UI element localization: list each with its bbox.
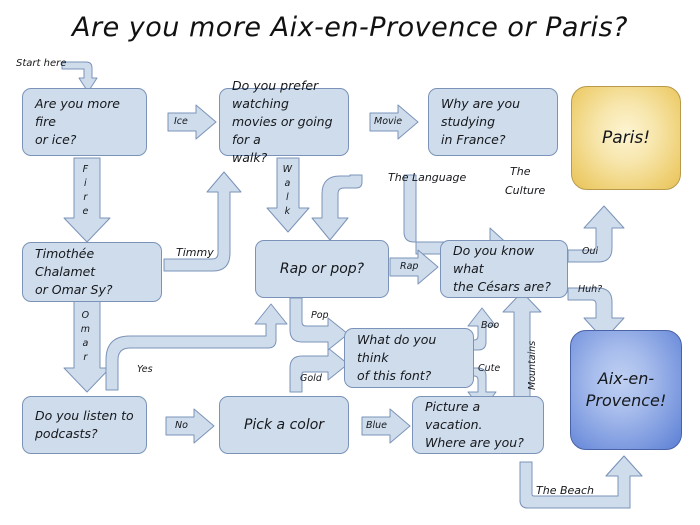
- arrow-rap: [390, 250, 438, 284]
- node-timothee-line2: or Omar Sy?: [35, 281, 149, 299]
- node-font[interactable]: What do you think of this font?: [344, 328, 474, 388]
- node-pick-color-label: Pick a color: [244, 415, 324, 435]
- node-fire-ice-line2: or ice?: [35, 131, 134, 149]
- arrow-timmy: [164, 172, 241, 271]
- edge-label-walk: Walk: [281, 164, 293, 220]
- node-font-line2: of this font?: [357, 367, 461, 385]
- edge-label-omar: Omar: [79, 310, 91, 366]
- arrow-movie: [370, 105, 418, 139]
- node-vacation-line2: Where are you?: [425, 434, 531, 452]
- arrow-blue: [362, 409, 410, 443]
- node-aix-line1: Aix-en-: [598, 368, 654, 390]
- arrow-ice: [168, 105, 216, 139]
- node-aix[interactable]: Aix-en- Provence!: [570, 330, 682, 450]
- node-movies-walk-line2: movies or going for a: [232, 113, 336, 149]
- node-timothee[interactable]: Timothée Chalamet or Omar Sy?: [22, 242, 162, 302]
- node-aix-line2: Provence!: [586, 390, 667, 412]
- node-paris-label: Paris!: [602, 127, 650, 150]
- edge-label-mountains: Mountains: [527, 341, 538, 390]
- edge-label-fire: Fire: [79, 164, 91, 220]
- edge-label-walk-text: Walk: [281, 164, 293, 220]
- node-cesars-line2: the Césars are?: [453, 278, 555, 296]
- node-why-france-line2: in France?: [441, 131, 545, 149]
- arrow-oui: [568, 206, 624, 262]
- node-why-france[interactable]: Why are you studying in France?: [428, 88, 558, 156]
- flowchart-canvas: Are you more Aix-en-Provence or Paris? .…: [0, 0, 700, 525]
- arrow-the-beach-body: [520, 456, 642, 508]
- node-podcasts-line1: Do you listen to: [35, 407, 134, 425]
- node-why-france-line1: Why are you studying: [441, 95, 545, 131]
- node-font-line1: What do you think: [357, 331, 461, 367]
- arrow-no: [166, 409, 214, 443]
- node-rap-pop[interactable]: Rap or pop?: [255, 240, 389, 298]
- start-here-label: Start here: [16, 58, 66, 69]
- arrow-yes: [106, 304, 287, 390]
- node-pick-color[interactable]: Pick a color: [219, 396, 349, 454]
- edge-label-fire-text: Fire: [79, 164, 91, 220]
- node-movies-walk[interactable]: Do you prefer watching movies or going f…: [219, 88, 349, 156]
- node-rap-pop-label: Rap or pop?: [280, 259, 364, 279]
- arrow-gold: [290, 348, 348, 392]
- node-fire-ice-line1: Are you more fire: [35, 95, 134, 131]
- arrow-pop: [290, 298, 348, 350]
- node-fire-ice[interactable]: Are you more fire or ice?: [22, 88, 147, 156]
- node-timothee-line1: Timothée Chalamet: [35, 245, 149, 281]
- node-vacation[interactable]: Picture a vacation. Where are you?: [412, 396, 544, 454]
- node-cesars[interactable]: Do you know what the Césars are?: [440, 240, 568, 298]
- node-podcasts-line2: podcasts?: [35, 425, 134, 443]
- node-podcasts[interactable]: Do you listen to podcasts?: [22, 396, 147, 454]
- node-cesars-line1: Do you know what: [453, 242, 555, 278]
- arrow-the-language: [312, 175, 362, 240]
- edge-label-omar-text: Omar: [79, 310, 91, 366]
- node-movies-walk-line1: Do you prefer watching: [232, 77, 336, 113]
- node-paris[interactable]: Paris!: [571, 86, 681, 190]
- node-vacation-line1: Picture a vacation.: [425, 398, 531, 434]
